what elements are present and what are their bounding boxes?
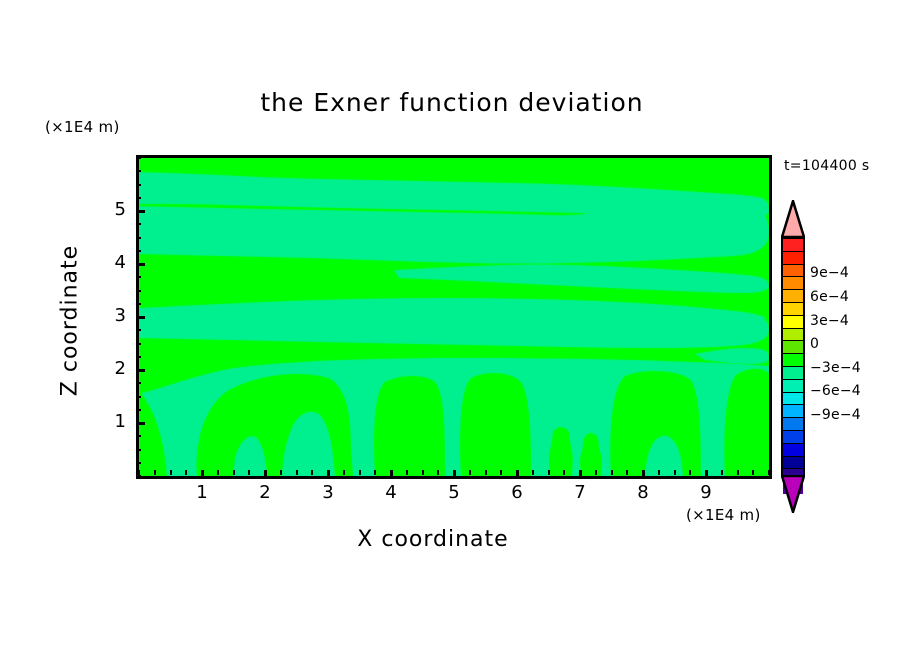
x-tick-minor [280, 470, 282, 475]
x-tick-minor [626, 470, 628, 475]
y-tick-minor [136, 197, 141, 199]
x-tick-minor [248, 470, 250, 475]
contour-plot-area [136, 155, 772, 479]
x-tick-minor [359, 470, 361, 475]
y-tick-minor [136, 157, 141, 159]
x-tick-major [264, 470, 267, 479]
colorbar-segment [783, 277, 803, 290]
timestamp-label: t=104400 s [784, 158, 869, 174]
x-tick-minor [233, 470, 235, 475]
x-tick-minor [422, 470, 424, 475]
colorbar: 9e−46e−43e−40−3e−4−6e−4−9e−4 [780, 200, 808, 515]
colorbar-segment [783, 316, 803, 329]
x-tick-minor [311, 470, 313, 475]
x-tick-minor [374, 470, 376, 475]
x-tick-minor [469, 470, 471, 475]
colorbar-under-arrow [781, 475, 805, 513]
y-tick-minor [136, 223, 141, 225]
y-tick-major [136, 263, 145, 266]
colorbar-tick-label: 3e−4 [810, 313, 849, 329]
x-tick-major [705, 470, 708, 479]
x-tick-minor [563, 470, 565, 475]
colorbar-tick-label: 6e−4 [810, 289, 849, 305]
x-axis-ticks: 123456789 [136, 470, 772, 482]
y-axis-units-label: (×1E4 m) [45, 118, 120, 136]
x-tick-minor [437, 470, 439, 475]
y-tick-minor [136, 184, 141, 186]
colorbar-tick-label: −3e−4 [810, 360, 861, 376]
colorbar-segment [783, 290, 803, 303]
y-tick-minor [136, 303, 141, 305]
x-tick-major [516, 470, 519, 479]
colorbar-tick-label: −6e−4 [810, 383, 861, 399]
x-tick-minor [154, 470, 156, 475]
colorbar-segment [783, 341, 803, 354]
y-tick-minor [136, 276, 141, 278]
y-tick-minor [136, 435, 141, 437]
y-tick-minor [136, 237, 141, 239]
y-tick-minor [136, 290, 141, 292]
y-tick-minor [136, 250, 141, 252]
x-tick-major [201, 470, 204, 479]
y-tick-major [136, 422, 145, 425]
colorbar-segment [783, 380, 803, 393]
x-tick-label: 9 [686, 482, 726, 503]
x-tick-label: 6 [497, 482, 537, 503]
x-tick-minor [532, 470, 534, 475]
colorbar-tick-labels: 9e−46e−43e−40−3e−4−6e−4−9e−4 [810, 200, 900, 515]
x-tick-minor [595, 470, 597, 475]
y-tick-label: 1 [102, 411, 126, 432]
y-tick-minor [136, 449, 141, 451]
y-axis-title: Z coordinate [58, 221, 83, 421]
chart-title: the Exner function deviation [0, 88, 904, 117]
x-tick-major [390, 470, 393, 479]
colorbar-segment [783, 354, 803, 367]
x-tick-minor [548, 470, 550, 475]
colorbar-tick-label: 0 [810, 336, 819, 352]
colorbar-segment [783, 329, 803, 342]
x-tick-label: 3 [308, 482, 348, 503]
y-tick-minor [136, 409, 141, 411]
colorbar-tick-label: −9e−4 [810, 407, 861, 423]
x-tick-label: 7 [560, 482, 600, 503]
x-tick-minor [658, 470, 660, 475]
y-tick-label: 3 [102, 305, 126, 326]
y-tick-label: 4 [102, 252, 126, 273]
x-tick-minor [689, 470, 691, 475]
contour-field-canvas [139, 158, 769, 476]
y-tick-minor [136, 343, 141, 345]
colorbar-tick-label: 9e−4 [810, 265, 849, 281]
x-tick-label: 1 [182, 482, 222, 503]
x-tick-major [327, 470, 330, 479]
y-tick-minor [136, 396, 141, 398]
x-tick-label: 4 [371, 482, 411, 503]
x-tick-minor [343, 470, 345, 475]
x-tick-major [453, 470, 456, 479]
x-tick-minor [768, 470, 770, 475]
colorbar-segment [783, 431, 803, 444]
y-tick-minor [136, 475, 141, 477]
y-tick-major [136, 369, 145, 372]
y-tick-label: 5 [102, 199, 126, 220]
y-tick-minor [136, 356, 141, 358]
x-axis-title: X coordinate [268, 527, 598, 552]
colorbar-segment [783, 457, 803, 470]
y-tick-major [136, 210, 145, 213]
colorbar-segment [783, 405, 803, 418]
chart-root: the Exner function deviation (×1E4 m) (×… [0, 0, 904, 654]
y-tick-minor [136, 170, 141, 172]
x-tick-minor [752, 470, 754, 475]
x-tick-minor [500, 470, 502, 475]
y-axis-ticks: 12345 [136, 155, 148, 479]
colorbar-segments [781, 237, 805, 477]
x-tick-minor [737, 470, 739, 475]
colorbar-segment [783, 303, 803, 316]
colorbar-segment [783, 418, 803, 431]
y-tick-minor [136, 462, 141, 464]
x-tick-minor [185, 470, 187, 475]
colorbar-segment [783, 252, 803, 265]
x-tick-major [579, 470, 582, 479]
x-tick-minor [611, 470, 613, 475]
x-tick-minor [721, 470, 723, 475]
x-tick-minor [217, 470, 219, 475]
colorbar-segment [783, 393, 803, 406]
colorbar-segment [783, 444, 803, 457]
colorbar-segment [783, 239, 803, 252]
x-tick-minor [406, 470, 408, 475]
y-tick-label: 2 [102, 358, 126, 379]
x-tick-minor [485, 470, 487, 475]
y-tick-major [136, 316, 145, 319]
y-tick-minor [136, 329, 141, 331]
x-axis-units-label: (×1E4 m) [686, 506, 761, 524]
colorbar-segment [783, 265, 803, 278]
x-tick-label: 8 [623, 482, 663, 503]
colorbar-segment [783, 367, 803, 380]
x-tick-label: 5 [434, 482, 474, 503]
y-tick-minor [136, 382, 141, 384]
x-tick-minor [170, 470, 172, 475]
x-tick-minor [674, 470, 676, 475]
x-tick-major [642, 470, 645, 479]
colorbar-over-arrow [781, 200, 805, 238]
x-tick-minor [296, 470, 298, 475]
x-tick-label: 2 [245, 482, 285, 503]
